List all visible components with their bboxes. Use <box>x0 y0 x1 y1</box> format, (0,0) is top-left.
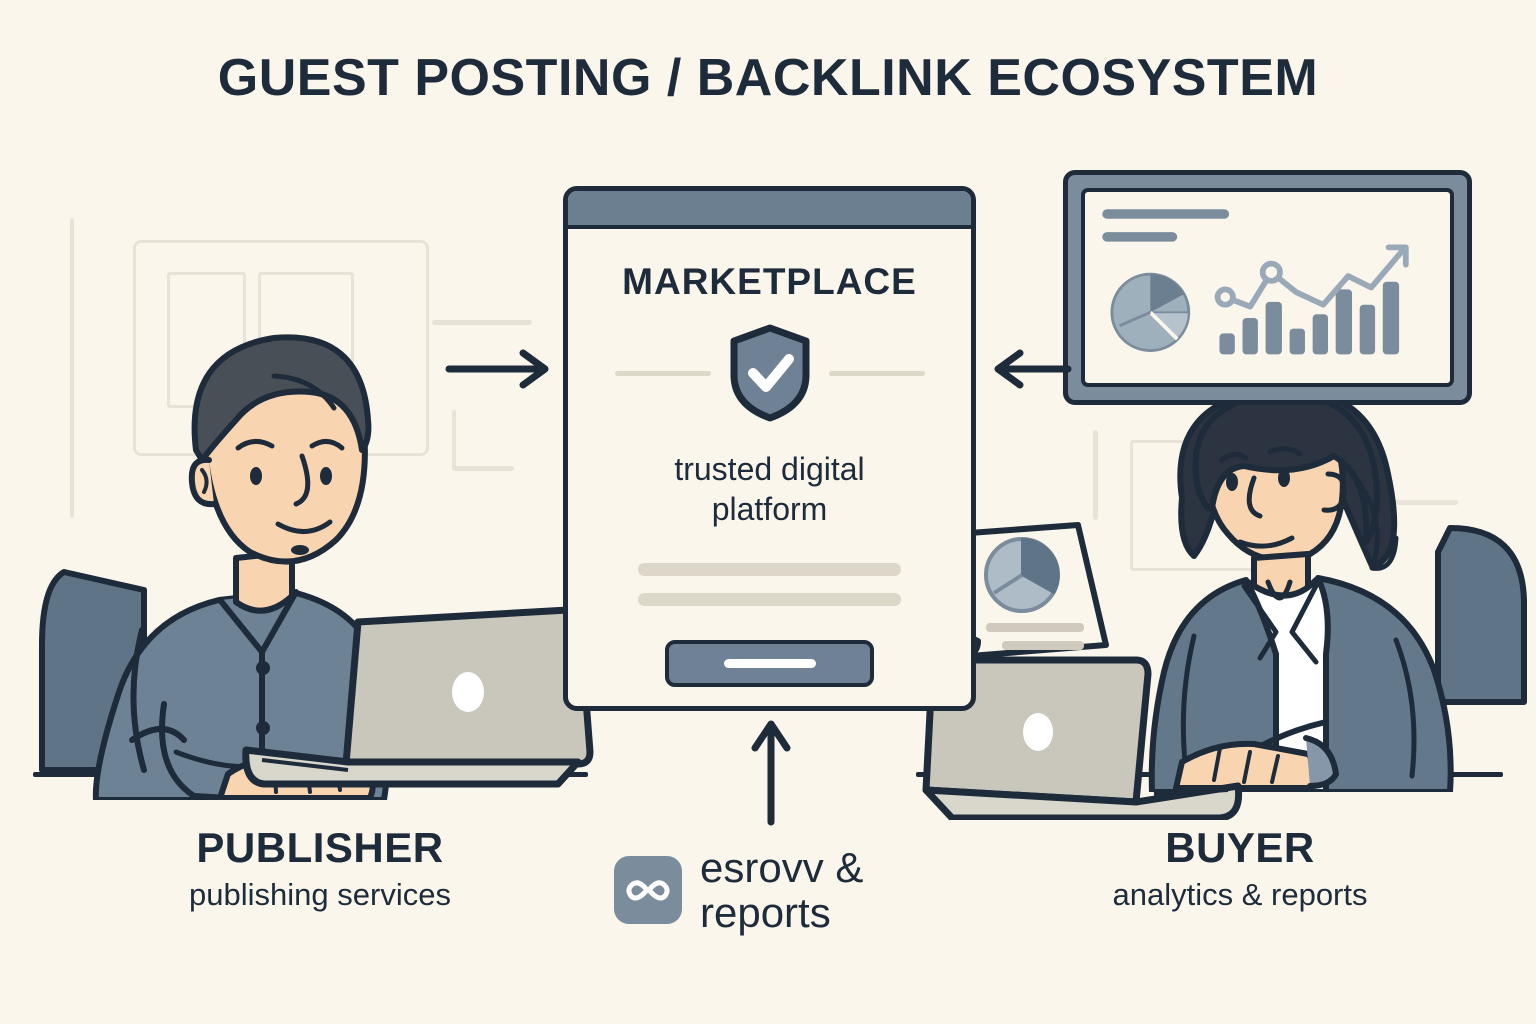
marketplace-cta-wrap <box>568 640 971 687</box>
buyer-subtitle: analytics & reports <box>980 877 1500 913</box>
marketplace-cta-button[interactable] <box>665 640 874 687</box>
buyer-title: BUYER <box>980 825 1500 871</box>
escrow-caption-line2: reports <box>700 890 863 935</box>
page-title: GUEST POSTING / BACKLINK ECOSYSTEM <box>0 48 1536 108</box>
marketplace-titlebar <box>568 191 971 229</box>
buyer-label: BUYER analytics & reports <box>980 825 1500 913</box>
arrow-dashboard-to-marketplace <box>992 348 1072 390</box>
ecosystem-diagram: GUEST POSTING / BACKLINK ECOSYSTEM <box>0 0 1536 1024</box>
arrow-escrow-to-marketplace <box>748 718 794 826</box>
skeleton-line <box>638 563 901 576</box>
marketplace-skeleton-lines <box>568 563 971 606</box>
escrow-block: esrovv & reports <box>614 845 863 936</box>
skeleton-line <box>638 593 901 606</box>
publisher-laptop <box>228 600 598 790</box>
marketplace-tagline: trusted digital platform <box>568 449 971 529</box>
analytics-dashboard-panel[interactable] <box>1063 170 1472 405</box>
divider-left <box>615 371 711 376</box>
dashboard-pie-chart <box>1112 274 1189 350</box>
publisher-label: PUBLISHER publishing services <box>60 825 580 913</box>
dashboard-screen <box>1081 188 1454 387</box>
dashboard-header-line-1 <box>1102 209 1229 219</box>
dashboard-bar-chart <box>1219 282 1399 355</box>
link-chain-icon <box>614 856 682 924</box>
arrow-publisher-to-marketplace <box>445 348 555 390</box>
escrow-caption-line1: esrovv & <box>700 845 863 890</box>
marketplace-heading: MARKETPLACE <box>568 261 971 303</box>
marketplace-tagline-line2: platform <box>598 489 941 529</box>
dashboard-trend-line <box>1218 247 1406 306</box>
marketplace-tagline-line1: trusted digital <box>598 449 941 489</box>
dashboard-header-line-2 <box>1102 232 1177 242</box>
publisher-subtitle: publishing services <box>60 877 580 913</box>
cta-label-placeholder <box>724 659 816 668</box>
marketplace-panel[interactable]: MARKETPLACE trusted digital platform <box>563 186 976 711</box>
publisher-title: PUBLISHER <box>60 825 580 871</box>
divider-right <box>829 371 925 376</box>
shield-check-icon <box>727 323 813 423</box>
report-page-pie-chart <box>986 539 1059 611</box>
escrow-caption: esrovv & reports <box>700 845 863 936</box>
dashboard-chart-group <box>1085 192 1450 383</box>
marketplace-badge-row <box>568 323 971 423</box>
